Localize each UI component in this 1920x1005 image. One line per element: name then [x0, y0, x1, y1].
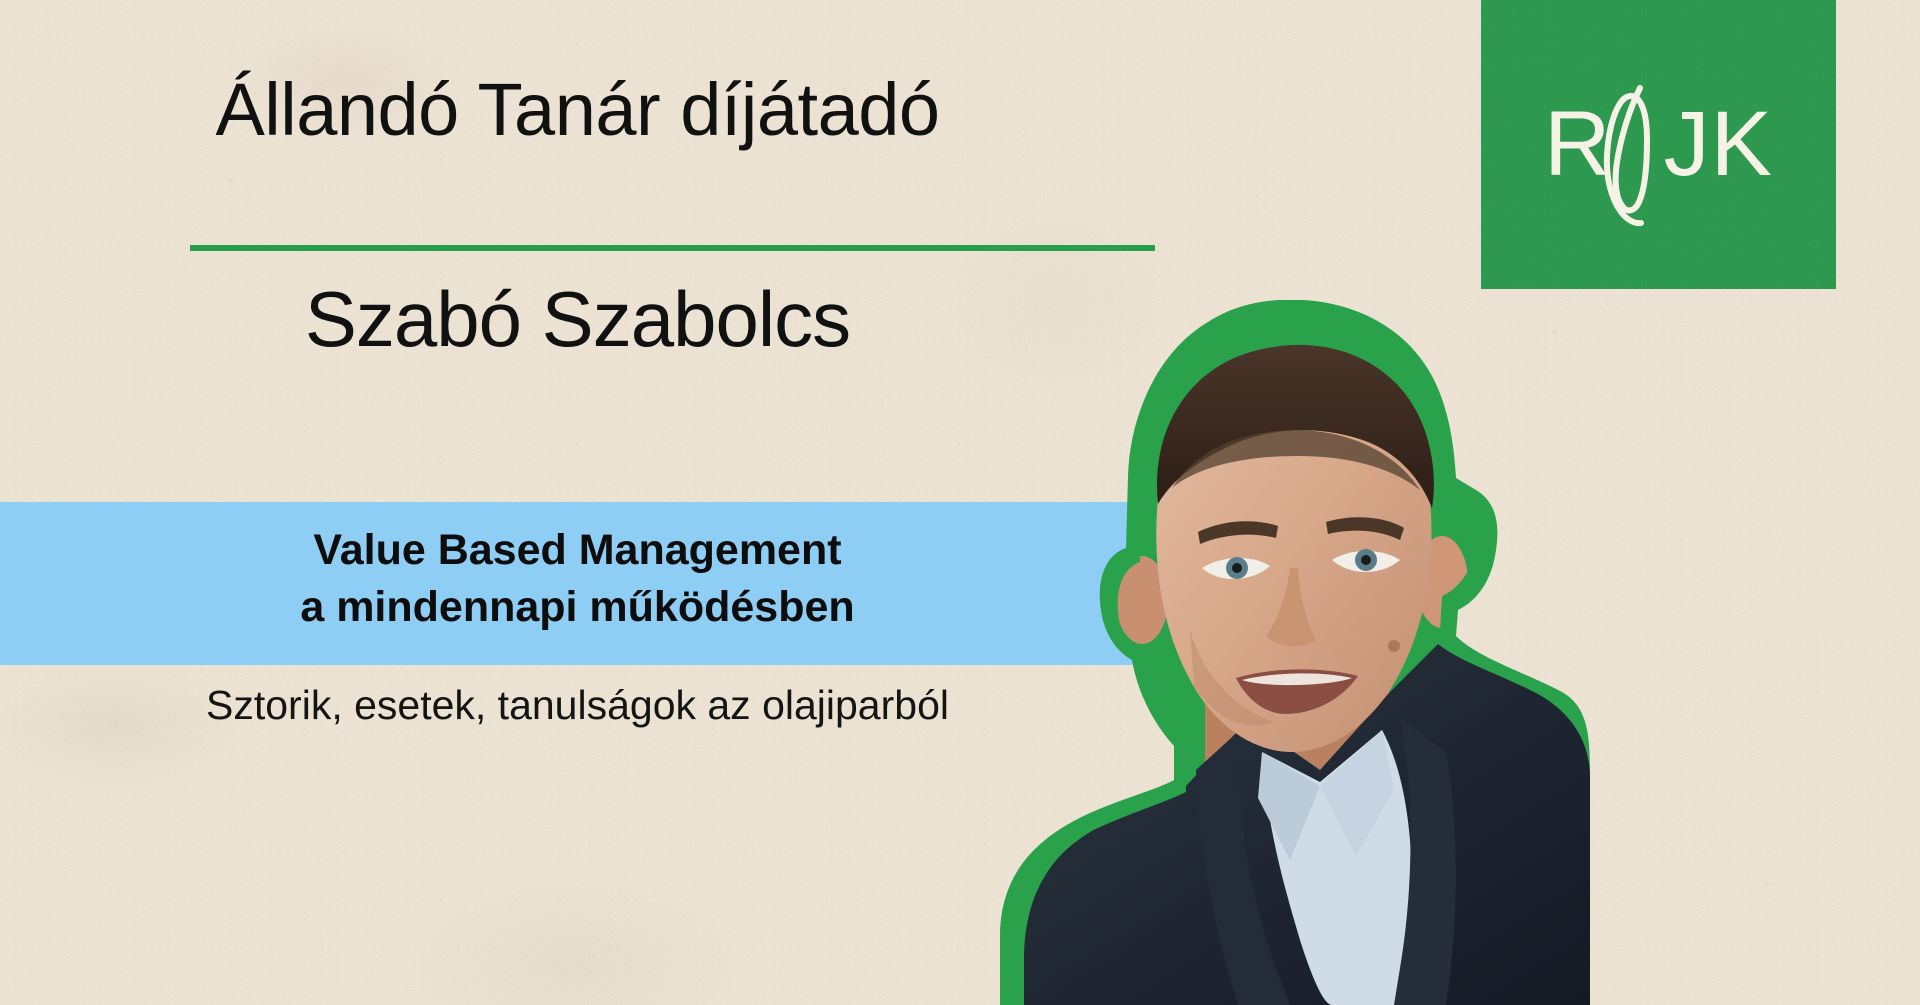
- rajk-logo-box: RaJK: [1481, 0, 1836, 289]
- beauty-mark: [1388, 640, 1400, 652]
- talk-title-line-2: a mindennapi működésben: [0, 579, 1155, 636]
- speaker-portrait: [990, 300, 1590, 1005]
- poster-canvas: Állandó Tanár díjátadó Szabó Szabolcs Va…: [0, 0, 1920, 1005]
- logo-letters-jk: JK: [1664, 93, 1773, 195]
- logo-script-a-icon: [1583, 74, 1673, 229]
- talk-title: Value Based Management a mindennapi műkö…: [0, 522, 1155, 636]
- awardee-name: Szabó Szabolcs: [0, 280, 1155, 358]
- speaker-portrait-image: [990, 300, 1590, 1005]
- talk-title-line-1: Value Based Management: [313, 526, 841, 574]
- talk-subtitle: Sztorik, esetek, tanulságok az olajiparb…: [0, 683, 1155, 728]
- page-title: Állandó Tanár díjátadó: [0, 72, 1155, 149]
- title-divider-rule: [190, 245, 1155, 251]
